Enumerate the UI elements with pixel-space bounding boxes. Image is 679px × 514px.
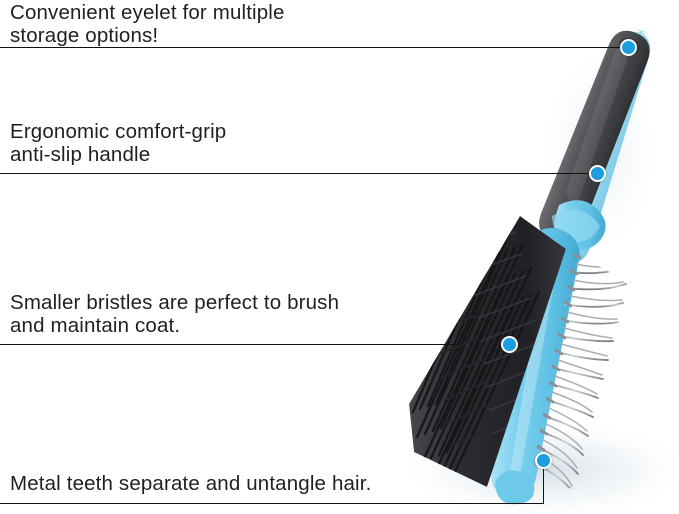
callout-handle-dot[interactable] xyxy=(589,165,606,182)
brush-head xyxy=(409,204,627,504)
callout-metal-teeth-dot[interactable] xyxy=(535,452,552,469)
callout-metal-teeth-text: Metal teeth separate and untangle hair. xyxy=(10,473,371,496)
callout-handle-leader-line xyxy=(0,173,589,174)
product-infographic: Convenient eyelet for multiple storage o… xyxy=(0,0,679,514)
brush-neck xyxy=(552,200,606,249)
callout-bristles-dot[interactable] xyxy=(501,336,518,353)
brush-handle xyxy=(527,20,666,271)
product-image-brush xyxy=(0,0,679,514)
brush-bristles-black xyxy=(409,204,566,487)
callout-eyelet-dot[interactable] xyxy=(620,39,637,56)
callout-handle-text: Ergonomic comfort-grip anti-slip handle xyxy=(10,121,226,166)
callout-bristles-leader-line xyxy=(0,344,460,345)
callout-eyelet-leader-line xyxy=(0,47,620,48)
callout-eyelet-text: Convenient eyelet for multiple storage o… xyxy=(10,2,285,47)
callout-metal-teeth-leader-line xyxy=(0,503,544,504)
callout-bristles-text: Smaller bristles are perfect to brush an… xyxy=(10,292,339,337)
